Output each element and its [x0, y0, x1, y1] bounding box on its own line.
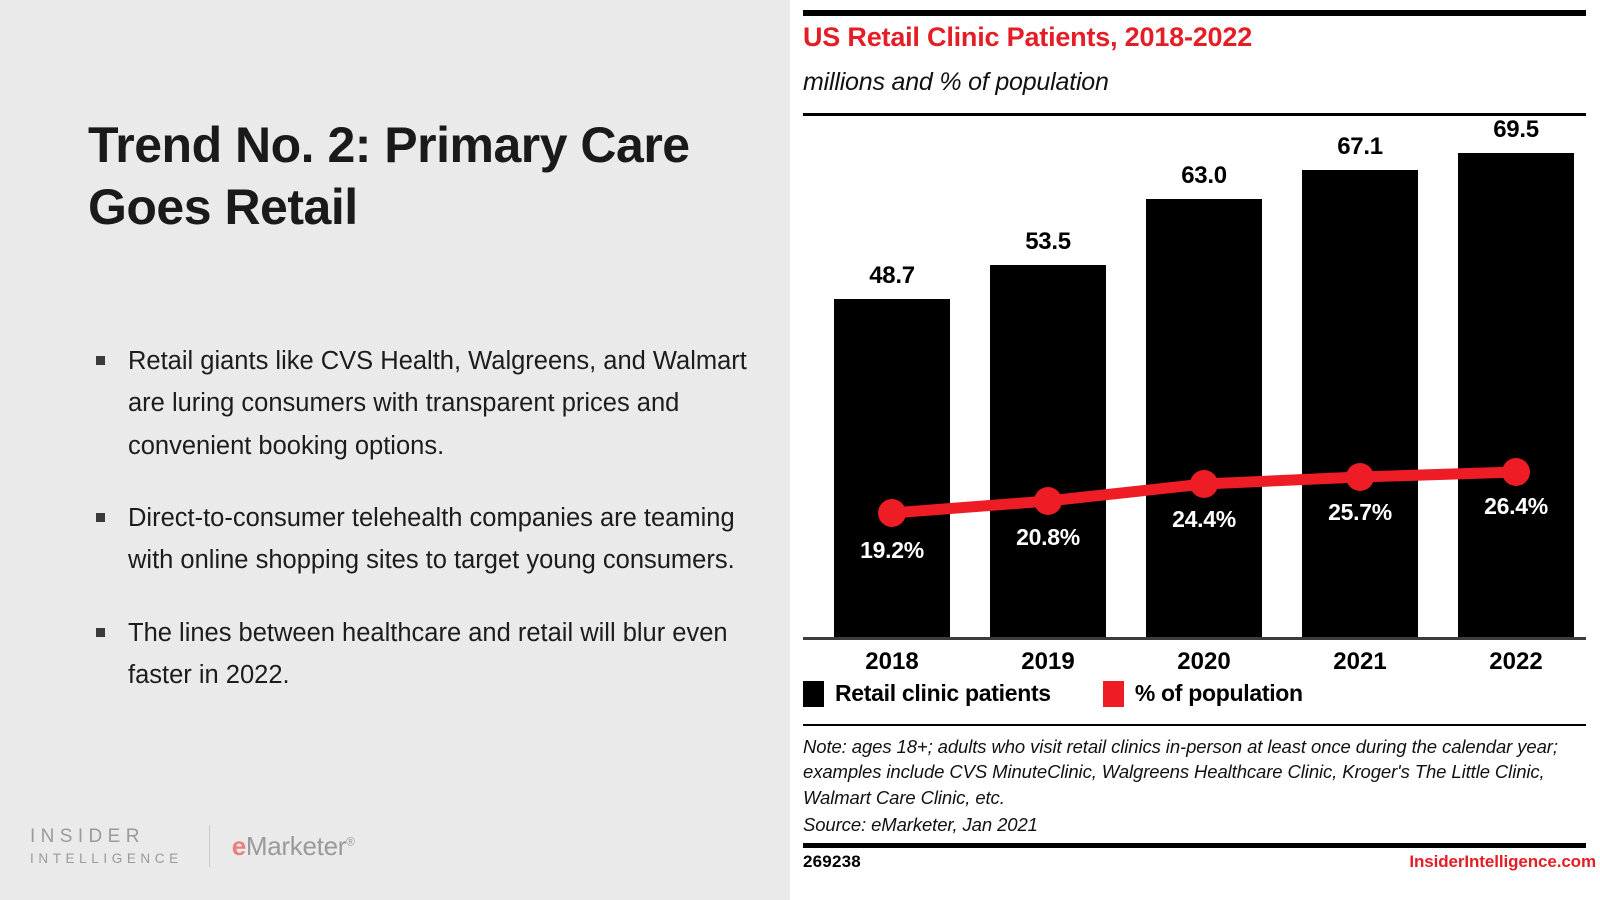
bullet-text: Direct-to-consumer telehealth companies … — [128, 504, 735, 574]
x-axis-line — [803, 637, 1586, 640]
chart-note-block: Note: ages 18+; adults who visit retail … — [803, 734, 1563, 837]
intelligence-word: INTELLIGENCE — [30, 852, 183, 866]
x-tick-2019: 2019 — [990, 648, 1106, 676]
chart-subtitle: millions and % of population — [803, 68, 1109, 97]
line-marker-2022 — [1502, 458, 1530, 486]
insider-intelligence-logo: INSIDER INTELLIGENCE — [30, 827, 183, 866]
emarketer-e: e — [232, 831, 246, 861]
plot-area: 48.7 53.5 63.0 67.1 69.5 19.2% 20.8% 24.… — [803, 120, 1586, 640]
emarketer-logo: eMarketer® — [232, 831, 355, 862]
square-bullet-icon — [96, 513, 105, 522]
chart-source: Source: eMarketer, Jan 2021 — [803, 812, 1563, 837]
chart-note: Note: ages 18+; adults who visit retail … — [803, 734, 1563, 810]
insider-word: INSIDER — [30, 827, 183, 846]
note-rule-divider — [803, 724, 1586, 726]
brand-logo-lockup: INSIDER INTELLIGENCE eMarketer® — [30, 824, 355, 868]
line-marker-2020 — [1190, 470, 1218, 498]
x-tick-2020: 2020 — [1146, 648, 1262, 676]
legend-swatch-red-icon — [1103, 681, 1124, 707]
x-tick-2021: 2021 — [1302, 648, 1418, 676]
line-marker-2021 — [1346, 463, 1374, 491]
list-item: The lines between healthcare and retail … — [92, 612, 752, 697]
x-tick-2022: 2022 — [1458, 648, 1574, 676]
chart-legend: Retail clinic patients % of population — [803, 680, 1355, 707]
bullet-text: Retail giants like CVS Health, Walgreens… — [128, 347, 747, 460]
pct-value-label-2020: 24.4% — [1146, 506, 1262, 533]
pct-value-label-2022: 26.4% — [1458, 493, 1574, 520]
chart-title: US Retail Clinic Patients, 2018-2022 — [803, 22, 1252, 53]
legend-entry-line: % of population — [1103, 680, 1303, 707]
pct-value-label-2021: 25.7% — [1302, 499, 1418, 526]
top-rule-divider — [803, 10, 1586, 16]
list-item: Direct-to-consumer telehealth companies … — [92, 497, 752, 582]
logo-divider — [209, 825, 210, 867]
registered-mark-icon: ® — [346, 834, 355, 848]
pct-value-label-2019: 20.8% — [990, 524, 1106, 551]
x-tick-2018: 2018 — [834, 648, 950, 676]
legend-entry-bars: Retail clinic patients — [803, 680, 1051, 707]
site-url-link[interactable]: InsiderIntelligence.com — [1409, 852, 1596, 872]
pct-value-label-2018: 19.2% — [834, 537, 950, 564]
line-marker-2019 — [1034, 487, 1062, 515]
chart-panel: US Retail Clinic Patients, 2018-2022 mil… — [790, 0, 1600, 900]
legend-label-line: % of population — [1135, 680, 1303, 707]
bottom-rule-divider — [803, 843, 1586, 848]
left-content-panel: Trend No. 2: Primary Care Goes Retail Re… — [0, 0, 790, 900]
square-bullet-icon — [96, 356, 105, 365]
bullet-list: Retail giants like CVS Health, Walgreens… — [92, 340, 752, 726]
bullet-text: The lines between healthcare and retail … — [128, 619, 728, 689]
legend-label-bars: Retail clinic patients — [835, 680, 1051, 707]
slide-root: Trend No. 2: Primary Care Goes Retail Re… — [0, 0, 1600, 900]
emarketer-rest: Marketer — [246, 831, 346, 861]
chart-id-number: 269238 — [803, 852, 861, 872]
square-bullet-icon — [96, 628, 105, 637]
page-title: Trend No. 2: Primary Care Goes Retail — [88, 114, 728, 238]
list-item: Retail giants like CVS Health, Walgreens… — [92, 340, 752, 467]
line-marker-2018 — [878, 499, 906, 527]
legend-swatch-black-icon — [803, 681, 824, 707]
